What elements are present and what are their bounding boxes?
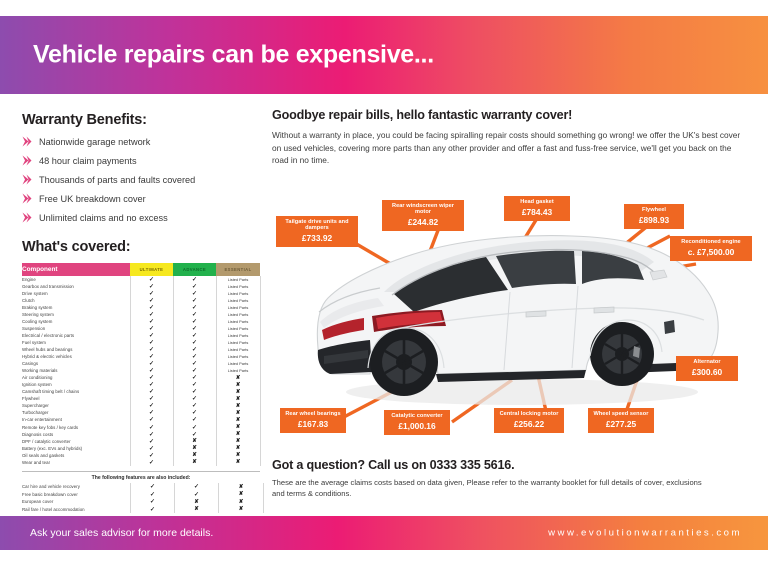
component-name: Suspension bbox=[22, 325, 130, 332]
table-row: Steering system✓✓Listed Parts bbox=[22, 311, 260, 318]
cell-cross-icon: ✘ bbox=[216, 374, 260, 381]
cell-cross-icon: ✘ bbox=[173, 452, 216, 459]
component-name: Battery (exc. EVs and hybrids) bbox=[22, 445, 130, 452]
cell-tick-icon: ✓ bbox=[130, 452, 173, 459]
footer-cta: Ask your sales advisor for more details. bbox=[30, 527, 213, 539]
cell-tick-icon: ✓ bbox=[175, 491, 219, 498]
cell-tick-icon: ✓ bbox=[130, 367, 173, 374]
cell-listed-parts: Listed Parts bbox=[216, 339, 260, 346]
component-name: Flywheel bbox=[22, 395, 130, 402]
table-row: Electrical / electronic parts✓✓Listed Pa… bbox=[22, 332, 260, 339]
cell-tick-icon: ✓ bbox=[130, 409, 173, 416]
cell-tick-icon: ✓ bbox=[175, 483, 219, 490]
cell-tick-icon: ✓ bbox=[173, 339, 216, 346]
cell-tick-icon: ✓ bbox=[173, 388, 216, 395]
table-row: Turbocharger✓✓✘ bbox=[22, 409, 260, 416]
cell-tick-icon: ✓ bbox=[130, 311, 173, 318]
component-name: Braking system bbox=[22, 304, 130, 311]
component-name: Wear and tear bbox=[22, 459, 130, 466]
cell-tick-icon: ✓ bbox=[130, 402, 173, 409]
callout-label: Alternator bbox=[680, 359, 734, 365]
list-item: European cover✓✘✘ bbox=[22, 498, 264, 505]
cell-tick-icon: ✓ bbox=[130, 353, 173, 360]
cell-listed-parts: Listed Parts bbox=[216, 290, 260, 297]
cell-tick-icon: ✓ bbox=[173, 381, 216, 388]
cell-cross-icon: ✘ bbox=[175, 498, 219, 505]
component-name: Drive system bbox=[22, 290, 130, 297]
callout-wheel-speed-sensor[interactable]: Wheel speed sensor £277.25 bbox=[588, 408, 654, 433]
cell-tick-icon: ✓ bbox=[173, 332, 216, 339]
benefit-item: Unlimited claims and no excess bbox=[22, 213, 264, 225]
benefit-label: Nationwide garage network bbox=[39, 137, 150, 149]
coverage-table: Component ULTIMATE ADVANCE ESSENTIAL Eng… bbox=[22, 263, 261, 466]
callout-price: £277.25 bbox=[592, 420, 650, 429]
col-header-ultimate: ULTIMATE bbox=[130, 263, 173, 276]
cell-tick-icon: ✓ bbox=[131, 483, 175, 490]
table-row: Drive system✓✓Listed Parts bbox=[22, 290, 260, 297]
cell-cross-icon: ✘ bbox=[216, 452, 260, 459]
cell-listed-parts: Listed Parts bbox=[216, 276, 260, 283]
cell-listed-parts: Listed Parts bbox=[216, 332, 260, 339]
callout-label: Reconditioned engine bbox=[674, 239, 748, 245]
component-name: Electrical / electronic parts bbox=[22, 332, 130, 339]
callout-label: Wheel speed sensor bbox=[592, 411, 650, 417]
cell-tick-icon: ✓ bbox=[130, 381, 173, 388]
page-title: Vehicle repairs can be expensive... bbox=[33, 41, 434, 70]
cell-cross-icon: ✘ bbox=[216, 409, 260, 416]
cell-tick-icon: ✓ bbox=[173, 367, 216, 374]
cell-cross-icon: ✘ bbox=[219, 483, 264, 490]
component-name: Fuel system bbox=[22, 339, 130, 346]
right-body-text: Without a warranty in place, you could b… bbox=[272, 129, 748, 167]
cell-cross-icon: ✘ bbox=[216, 445, 260, 452]
cell-listed-parts: Listed Parts bbox=[216, 311, 260, 318]
feature-name: Car hire and vehicle recovery bbox=[22, 483, 131, 490]
table-row: Working materials✓✓Listed Parts bbox=[22, 367, 260, 374]
cell-listed-parts: Listed Parts bbox=[216, 325, 260, 332]
table-row: Battery (exc. EVs and hybrids)✓✘✘ bbox=[22, 445, 260, 452]
question-heading: Got a question? Call us on 0333 335 5616… bbox=[272, 458, 702, 472]
callout-alternator[interactable]: Alternator £300.60 bbox=[676, 356, 738, 381]
callout-catalytic-converter[interactable]: Catalytic converter £1,000.16 bbox=[384, 410, 450, 435]
cell-tick-icon: ✓ bbox=[173, 297, 216, 304]
cell-listed-parts: Listed Parts bbox=[216, 360, 260, 367]
table-row: Supercharger✓✓✘ bbox=[22, 402, 260, 409]
component-name: Camshaft timing belt / chains bbox=[22, 388, 130, 395]
chevron-right-icon bbox=[22, 193, 32, 204]
table-row: DPF / catalytic converter✓✘✘ bbox=[22, 438, 260, 445]
whats-covered-heading: What's covered: bbox=[22, 239, 264, 255]
cell-tick-icon: ✓ bbox=[173, 374, 216, 381]
cell-tick-icon: ✓ bbox=[173, 276, 216, 283]
cell-cross-icon: ✘ bbox=[216, 423, 260, 430]
cell-tick-icon: ✓ bbox=[173, 431, 216, 438]
cell-cross-icon: ✘ bbox=[216, 388, 260, 395]
callout-price: £300.60 bbox=[680, 368, 734, 377]
cell-tick-icon: ✓ bbox=[173, 353, 216, 360]
component-name: Steering system bbox=[22, 311, 130, 318]
table-row: Casings✓✓Listed Parts bbox=[22, 360, 260, 367]
callout-price: £244.82 bbox=[386, 218, 460, 227]
table-row: Camshaft timing belt / chains✓✓✘ bbox=[22, 388, 260, 395]
callout-flywheel[interactable]: Flywheel £898.93 bbox=[624, 204, 684, 229]
chevron-right-icon bbox=[22, 212, 32, 223]
cell-tick-icon: ✓ bbox=[130, 360, 173, 367]
callout-price: £1,000.16 bbox=[388, 422, 446, 431]
table-row: Wear and tear✓✘✘ bbox=[22, 459, 260, 466]
component-name: Clutch bbox=[22, 297, 130, 304]
component-name: Ignition system bbox=[22, 381, 130, 388]
table-row: Oil seals and gaskets✓✘✘ bbox=[22, 452, 260, 459]
cell-tick-icon: ✓ bbox=[130, 304, 173, 311]
component-name: Oil seals and gaskets bbox=[22, 452, 130, 459]
component-name: Wheel hubs and bearings bbox=[22, 346, 130, 353]
cell-tick-icon: ✓ bbox=[173, 318, 216, 325]
cell-tick-icon: ✓ bbox=[131, 498, 175, 505]
cell-tick-icon: ✓ bbox=[130, 297, 173, 304]
callout-label: Tailgate drive units and dampers bbox=[280, 219, 354, 232]
feature-name: Free basic breakdown cover bbox=[22, 491, 131, 498]
list-item: Rail fare / hotel accommodation✓✘✘ bbox=[22, 505, 264, 512]
cell-tick-icon: ✓ bbox=[130, 438, 173, 445]
col-header-advance: ADVANCE bbox=[173, 263, 216, 276]
cell-tick-icon: ✓ bbox=[173, 360, 216, 367]
callout-price: £167.83 bbox=[284, 420, 342, 429]
callout-price: £784.43 bbox=[508, 208, 566, 217]
cell-cross-icon: ✘ bbox=[219, 491, 264, 498]
component-name: Working materials bbox=[22, 367, 130, 374]
callout-label: Head gasket bbox=[508, 199, 566, 205]
cell-tick-icon: ✓ bbox=[173, 346, 216, 353]
chevron-right-icon bbox=[22, 136, 32, 147]
cell-cross-icon: ✘ bbox=[216, 402, 260, 409]
cell-tick-icon: ✓ bbox=[130, 423, 173, 430]
cell-tick-icon: ✓ bbox=[173, 402, 216, 409]
callout-price: £898.93 bbox=[628, 216, 680, 225]
chevron-right-icon bbox=[22, 155, 32, 166]
cell-tick-icon: ✓ bbox=[130, 388, 173, 395]
table-row: Gearbox and transmission✓✓Listed Parts bbox=[22, 283, 260, 290]
cell-tick-icon: ✓ bbox=[130, 459, 173, 466]
cell-listed-parts: Listed Parts bbox=[216, 353, 260, 360]
callout-label: Central locking motor bbox=[498, 411, 560, 417]
table-row: Engine✓✓Listed Parts bbox=[22, 276, 260, 283]
callout-label: Rear windscreen wiper motor bbox=[386, 203, 460, 216]
coverage-table-header-row: Component ULTIMATE ADVANCE ESSENTIAL bbox=[22, 263, 260, 276]
callout-rear-windscreen-wiper-motor[interactable]: Rear windscreen wiper motor £244.82 bbox=[382, 200, 464, 231]
cell-cross-icon: ✘ bbox=[216, 381, 260, 388]
table-row: Ignition system✓✓✘ bbox=[22, 381, 260, 388]
callout-label: Rear wheel bearings bbox=[284, 411, 342, 417]
component-name: Engine bbox=[22, 276, 130, 283]
table-row: Air conditioning✓✓✘ bbox=[22, 374, 260, 381]
cell-listed-parts: Listed Parts bbox=[216, 297, 260, 304]
car-illustration bbox=[317, 236, 718, 405]
benefit-label: 48 hour claim payments bbox=[39, 156, 137, 168]
cell-cross-icon: ✘ bbox=[175, 505, 219, 512]
cell-tick-icon: ✓ bbox=[130, 395, 173, 402]
cell-tick-icon: ✓ bbox=[173, 304, 216, 311]
footer-website[interactable]: www.evolutionwarranties.com bbox=[548, 528, 742, 539]
table-row: In-car entertainment✓✓✘ bbox=[22, 416, 260, 423]
benefit-label: Free UK breakdown cover bbox=[39, 194, 146, 206]
cell-cross-icon: ✘ bbox=[219, 505, 264, 512]
cell-tick-icon: ✓ bbox=[130, 346, 173, 353]
right-heading: Goodbye repair bills, hello fantastic wa… bbox=[272, 108, 748, 122]
cell-tick-icon: ✓ bbox=[173, 283, 216, 290]
cell-tick-icon: ✓ bbox=[130, 283, 173, 290]
header-banner: Vehicle repairs can be expensive... bbox=[0, 16, 768, 94]
component-name: In-car entertainment bbox=[22, 416, 130, 423]
component-name: Gearbox and transmission bbox=[22, 283, 130, 290]
benefit-item: 48 hour claim payments bbox=[22, 156, 264, 168]
cell-cross-icon: ✘ bbox=[216, 395, 260, 402]
cell-tick-icon: ✓ bbox=[173, 395, 216, 402]
also-included-title: The following features are also included… bbox=[22, 475, 260, 481]
cell-tick-icon: ✓ bbox=[173, 290, 216, 297]
vehicle-diagram: Tailgate drive units and dampers £733.92… bbox=[272, 180, 760, 452]
component-name: Air conditioning bbox=[22, 374, 130, 381]
cell-tick-icon: ✓ bbox=[173, 416, 216, 423]
cell-tick-icon: ✓ bbox=[173, 409, 216, 416]
cell-cross-icon: ✘ bbox=[216, 431, 260, 438]
callout-tailgate-drive-units[interactable]: Tailgate drive units and dampers £733.92 bbox=[276, 216, 358, 247]
poster-page: Vehicle repairs can be expensive... Warr… bbox=[0, 0, 768, 576]
table-row: Diagnosis costs✓✓✘ bbox=[22, 431, 260, 438]
cell-listed-parts: Listed Parts bbox=[216, 346, 260, 353]
cell-listed-parts: Listed Parts bbox=[216, 283, 260, 290]
feature-name: European cover bbox=[22, 498, 131, 505]
footer-banner: Ask your sales advisor for more details.… bbox=[0, 516, 768, 550]
cell-tick-icon: ✓ bbox=[130, 318, 173, 325]
callout-head-gasket[interactable]: Head gasket £784.43 bbox=[504, 196, 570, 221]
cell-cross-icon: ✘ bbox=[173, 438, 216, 445]
benefit-item: Thousands of parts and faults covered bbox=[22, 175, 264, 187]
left-column: Warranty Benefits: Nationwide garage net… bbox=[22, 112, 264, 513]
cell-tick-icon: ✓ bbox=[130, 339, 173, 346]
component-name: Hybrid & electric vehicles bbox=[22, 353, 130, 360]
also-included-table: Car hire and vehicle recovery✓✓✘Free bas… bbox=[22, 483, 264, 513]
cell-tick-icon: ✓ bbox=[131, 505, 175, 512]
callout-price: c. £7,500.00 bbox=[674, 248, 748, 257]
table-row: Wheel hubs and bearings✓✓Listed Parts bbox=[22, 346, 260, 353]
col-header-essential: ESSENTIAL bbox=[216, 263, 260, 276]
benefit-item: Nationwide garage network bbox=[22, 137, 264, 149]
table-row: Cooling system✓✓Listed Parts bbox=[22, 318, 260, 325]
cell-cross-icon: ✘ bbox=[216, 416, 260, 423]
cell-cross-icon: ✘ bbox=[219, 498, 264, 505]
component-name: Cooling system bbox=[22, 318, 130, 325]
cell-cross-icon: ✘ bbox=[173, 445, 216, 452]
callout-label: Flywheel bbox=[628, 207, 680, 213]
list-item: Free basic breakdown cover✓✓✘ bbox=[22, 491, 264, 498]
cell-tick-icon: ✓ bbox=[130, 416, 173, 423]
feature-name: Rail fare / hotel accommodation bbox=[22, 505, 131, 512]
cell-tick-icon: ✓ bbox=[130, 290, 173, 297]
callout-price: £733.92 bbox=[280, 234, 354, 243]
col-header-component: Component bbox=[22, 263, 130, 276]
chevron-right-icon bbox=[22, 174, 32, 185]
table-row: Braking system✓✓Listed Parts bbox=[22, 304, 260, 311]
cell-listed-parts: Listed Parts bbox=[216, 367, 260, 374]
benefit-label: Unlimited claims and no excess bbox=[39, 213, 168, 225]
benefits-list: Nationwide garage network48 hour claim p… bbox=[22, 137, 264, 225]
table-row: Suspension✓✓Listed Parts bbox=[22, 325, 260, 332]
question-disclaimer: These are the average claims costs based… bbox=[272, 477, 702, 500]
component-name: Remote key fobs / key cards bbox=[22, 423, 130, 430]
list-item: Car hire and vehicle recovery✓✓✘ bbox=[22, 483, 264, 490]
callout-central-locking-motor[interactable]: Central locking motor £256.22 bbox=[494, 408, 564, 433]
component-name: Turbocharger bbox=[22, 409, 130, 416]
cell-tick-icon: ✓ bbox=[130, 374, 173, 381]
component-name: DPF / catalytic converter bbox=[22, 438, 130, 445]
cell-tick-icon: ✓ bbox=[130, 276, 173, 283]
cell-cross-icon: ✘ bbox=[216, 459, 260, 466]
cell-tick-icon: ✓ bbox=[130, 445, 173, 452]
benefit-item: Free UK breakdown cover bbox=[22, 194, 264, 206]
cell-tick-icon: ✓ bbox=[130, 431, 173, 438]
question-section: Got a question? Call us on 0333 335 5616… bbox=[272, 458, 702, 500]
callout-rear-wheel-bearings[interactable]: Rear wheel bearings £167.83 bbox=[280, 408, 346, 433]
callout-label: Catalytic converter bbox=[388, 413, 446, 419]
also-included-section: The following features are also included… bbox=[22, 471, 260, 513]
benefit-label: Thousands of parts and faults covered bbox=[39, 175, 195, 187]
cell-tick-icon: ✓ bbox=[173, 311, 216, 318]
table-row: Flywheel✓✓✘ bbox=[22, 395, 260, 402]
cell-cross-icon: ✘ bbox=[216, 438, 260, 445]
table-row: Fuel system✓✓Listed Parts bbox=[22, 339, 260, 346]
cell-tick-icon: ✓ bbox=[173, 423, 216, 430]
cell-listed-parts: Listed Parts bbox=[216, 318, 260, 325]
cell-listed-parts: Listed Parts bbox=[216, 304, 260, 311]
table-row: Remote key fobs / key cards✓✓✘ bbox=[22, 423, 260, 430]
cell-tick-icon: ✓ bbox=[130, 332, 173, 339]
warranty-benefits-heading: Warranty Benefits: bbox=[22, 112, 264, 128]
callout-reconditioned-engine[interactable]: Reconditioned engine c. £7,500.00 bbox=[670, 236, 752, 261]
component-name: Diagnosis costs bbox=[22, 431, 130, 438]
table-row: Hybrid & electric vehicles✓✓Listed Parts bbox=[22, 353, 260, 360]
cell-tick-icon: ✓ bbox=[131, 491, 175, 498]
cell-cross-icon: ✘ bbox=[173, 459, 216, 466]
component-name: Casings bbox=[22, 360, 130, 367]
component-name: Supercharger bbox=[22, 402, 130, 409]
right-column: Goodbye repair bills, hello fantastic wa… bbox=[272, 108, 748, 167]
callout-price: £256.22 bbox=[498, 420, 560, 429]
table-row: Clutch✓✓Listed Parts bbox=[22, 297, 260, 304]
cell-tick-icon: ✓ bbox=[173, 325, 216, 332]
cell-tick-icon: ✓ bbox=[130, 325, 173, 332]
